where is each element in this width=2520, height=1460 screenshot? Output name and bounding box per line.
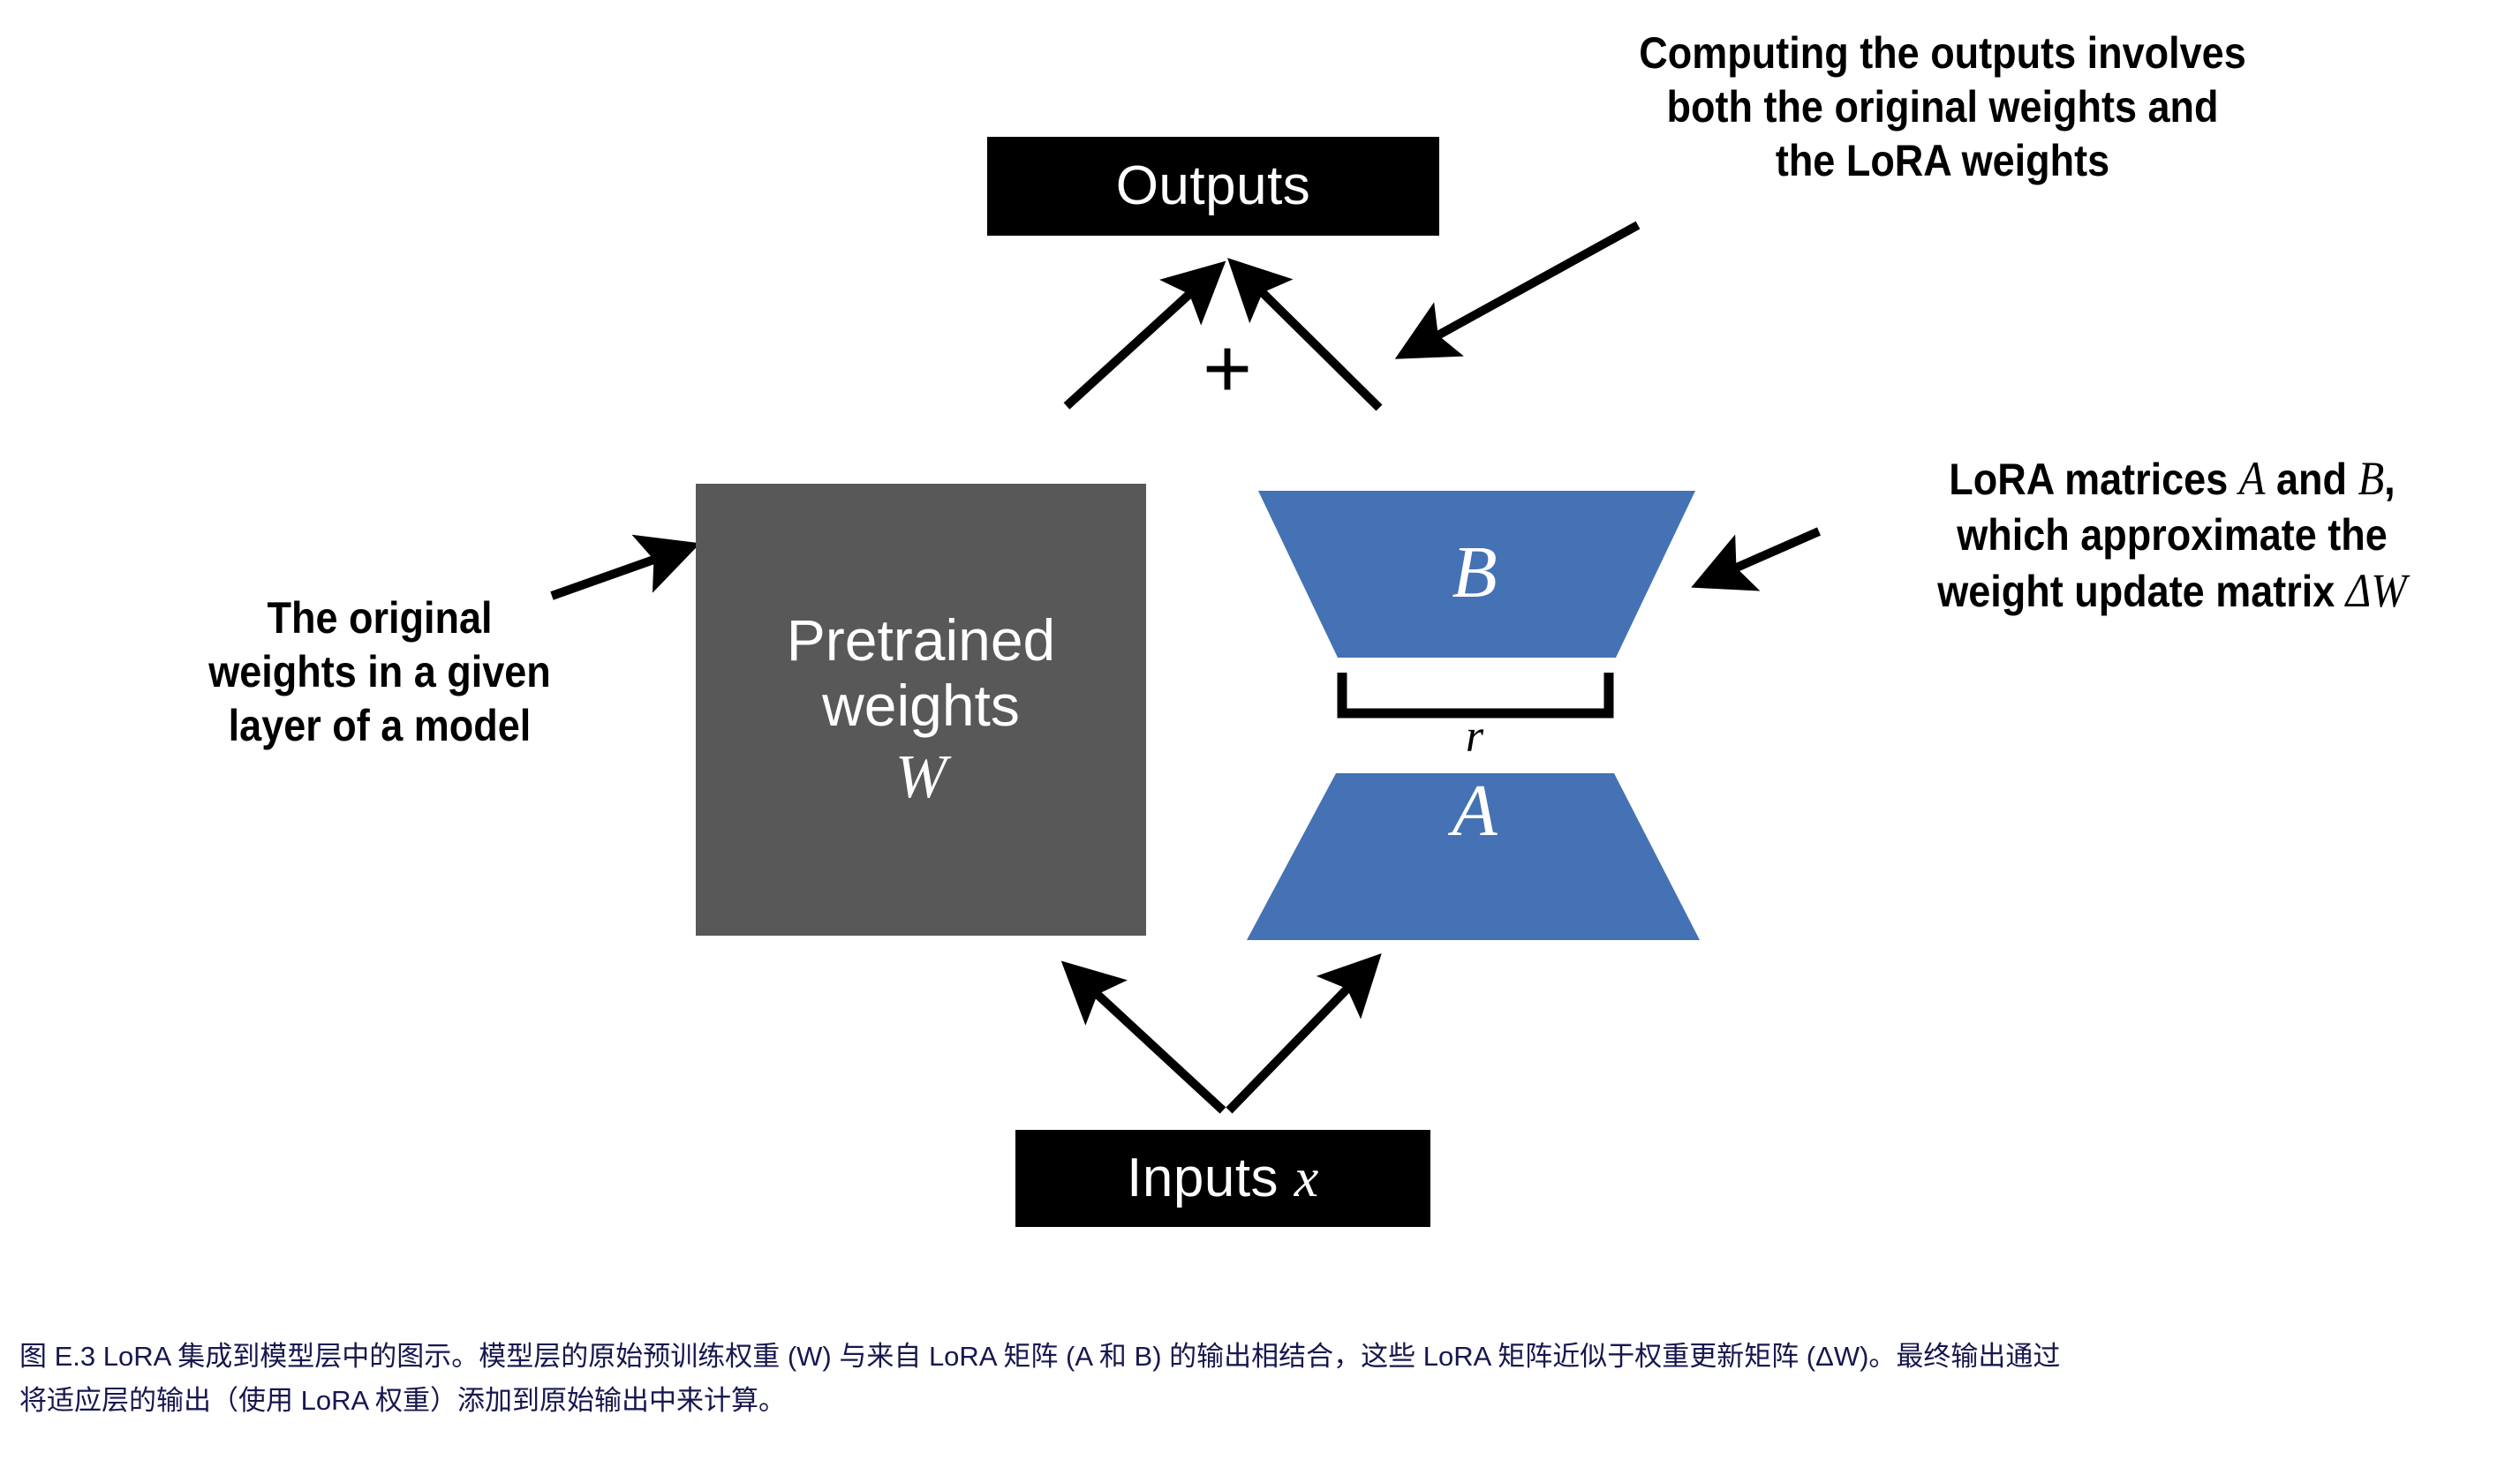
annotation-original-weights: The original weights in a given layer of… <box>157 591 602 753</box>
annotation-lora-line1-pre: LoRA matrices <box>1949 455 2238 504</box>
annotation-lora-symbol-a: A <box>2239 452 2266 505</box>
leader-arrow-top-annotation <box>1406 225 1638 353</box>
annotation-lora-matrices-line2: which approximate the <box>1870 508 2474 562</box>
rank-bracket <box>1342 673 1609 713</box>
arrow-input-to-lora <box>1229 962 1373 1110</box>
lora-matrix-b-label: B <box>1413 530 1536 615</box>
rank-label: r <box>1435 711 1514 763</box>
figure-caption-line1: 图 E.3 LoRA 集成到模型层中的图示。模型层的原始预训练权重 (W) 与来… <box>19 1335 2501 1379</box>
annotation-outputs: Computing the outputs involves both the … <box>1545 26 2340 188</box>
figure-caption: 图 E.3 LoRA 集成到模型层中的图示。模型层的原始预训练权重 (W) 与来… <box>19 1335 2501 1423</box>
arrow-input-to-pretrained <box>1070 969 1223 1110</box>
pretrained-weights-node: Pretrained weights W <box>696 484 1146 936</box>
plus-operator-symbol: + <box>1174 327 1280 411</box>
annotation-original-weights-line2: weights in a given <box>157 645 602 699</box>
figure-caption-line2: 将适应层的输出（使用 LoRA 权重）添加到原始输出中来计算。 <box>19 1379 2501 1423</box>
annotation-original-weights-line3: layer of a model <box>157 699 602 753</box>
leader-arrow-right-annotation <box>1702 531 1819 583</box>
annotation-outputs-line1: Computing the outputs involves <box>1545 26 2340 80</box>
inputs-symbol: x <box>1294 1148 1319 1208</box>
annotation-lora-line1-post: , <box>2384 455 2396 504</box>
outputs-node: Outputs <box>987 137 1439 236</box>
inputs-label-text: Inputs <box>1127 1148 1279 1208</box>
annotation-lora-symbol-b: B <box>2358 452 2384 505</box>
pretrained-weights-label-line1: Pretrained <box>787 608 1056 674</box>
inputs-label: Inputs x <box>1127 1149 1319 1208</box>
figure-canvas: Outputs Pretrained weights W Inputs x B … <box>0 0 2520 1460</box>
annotation-outputs-line3: the LoRA weights <box>1545 134 2340 188</box>
annotation-original-weights-line1: The original <box>157 591 602 645</box>
annotation-lora-line3-pre: weight update matrix <box>1937 567 2346 616</box>
annotation-lora-matrices: LoRA matrices A and B, which approximate… <box>1870 450 2474 621</box>
pretrained-weights-label-line2: weights <box>822 674 1020 739</box>
outputs-label: Outputs <box>1116 157 1311 216</box>
annotation-lora-line1-mid: and <box>2265 455 2358 504</box>
leader-arrow-left-annotation <box>552 547 689 596</box>
pretrained-weights-symbol: W <box>895 744 947 811</box>
inputs-node: Inputs x <box>1015 1130 1430 1227</box>
annotation-lora-symbol-delta-w: ΔW <box>2346 564 2407 617</box>
annotation-outputs-line2: both the original weights and <box>1545 80 2340 134</box>
lora-matrix-a-label: A <box>1413 768 1536 854</box>
annotation-lora-matrices-line1: LoRA matrices A and B, <box>1870 450 2474 508</box>
annotation-lora-matrices-line3: weight update matrix ΔW <box>1870 562 2474 621</box>
